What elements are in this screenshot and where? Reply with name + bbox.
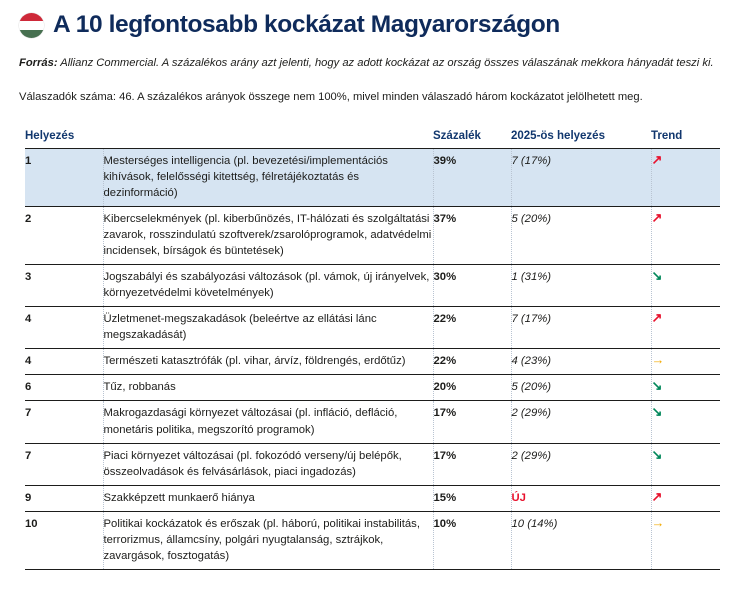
table-header: Helyezés Százalék 2025-ös helyezés Trend xyxy=(25,128,720,149)
cell-previous-rank: 7 (17%) xyxy=(511,149,651,207)
risk-report-page: A 10 legfontosabb kockázat Magyarországo… xyxy=(0,0,745,602)
trend-flat-arrow-icon: → xyxy=(652,353,665,366)
top-risks-table: Helyezés Százalék 2025-ös helyezés Trend… xyxy=(25,128,720,570)
cell-previous-rank: 2 (29%) xyxy=(511,443,651,485)
respondents-note: Válaszadók száma: 46. A százalékos arány… xyxy=(19,89,726,106)
page-title: A 10 legfontosabb kockázat Magyarországo… xyxy=(53,12,560,39)
trend-down-arrow-icon: ↘ xyxy=(652,448,663,461)
table-body: 1Mesterséges intelligencia (pl. bevezeté… xyxy=(25,149,720,570)
trend-up-arrow-icon: ↗ xyxy=(652,311,663,324)
flag-band-white xyxy=(19,21,44,29)
column-header-rank: Helyezés xyxy=(25,128,103,149)
trend-up-arrow-icon: ↗ xyxy=(652,153,663,166)
column-header-previous-rank: 2025-ös helyezés xyxy=(511,128,651,149)
trend-up-arrow-icon: ↗ xyxy=(652,490,663,503)
cell-risk-description: Üzletmenet-megszakadások (beleértve az e… xyxy=(103,307,433,349)
table-header-row: Helyezés Százalék 2025-ös helyezés Trend xyxy=(25,128,720,149)
cell-rank: 3 xyxy=(25,265,103,307)
table-row: 10Politikai kockázatok és erőszak (pl. h… xyxy=(25,511,720,569)
cell-rank: 7 xyxy=(25,401,103,443)
cell-previous-rank: 10 (14%) xyxy=(511,511,651,569)
trend-flat-arrow-icon: → xyxy=(652,516,665,529)
cell-trend: ↘ xyxy=(651,443,720,485)
source-label: Forrás: xyxy=(19,57,58,69)
cell-previous-rank: 7 (17%) xyxy=(511,307,651,349)
table-row: 7Makrogazdasági környezet változásai (pl… xyxy=(25,401,720,443)
table-row: 7Piaci környezet változásai (pl. fokozód… xyxy=(25,443,720,485)
trend-down-arrow-icon: ↘ xyxy=(652,405,663,418)
cell-rank: 2 xyxy=(25,207,103,265)
cell-previous-rank: 2 (29%) xyxy=(511,401,651,443)
cell-previous-rank: 1 (31%) xyxy=(511,265,651,307)
flag-band-red xyxy=(19,13,44,21)
hungary-flag-icon xyxy=(19,13,44,38)
table-row: 9Szakképzett munkaerő hiánya15%ÚJ↗ xyxy=(25,485,720,511)
table-row: 6Tűz, robbanás20%5 (20%)↘ xyxy=(25,375,720,401)
flag-band-green xyxy=(19,30,44,38)
cell-trend: ↗ xyxy=(651,207,720,265)
cell-risk-description: Makrogazdasági környezet változásai (pl.… xyxy=(103,401,433,443)
cell-rank: 7 xyxy=(25,443,103,485)
table-row: 3Jogszabályi és szabályozási változások … xyxy=(25,265,720,307)
source-note: Forrás: Allianz Commercial. A százalékos… xyxy=(19,55,719,72)
cell-risk-description: Természeti katasztrófák (pl. vihar, árví… xyxy=(103,349,433,375)
column-header-percent: Százalék xyxy=(433,128,511,149)
cell-trend: ↗ xyxy=(651,485,720,511)
cell-percent: 39% xyxy=(433,149,511,207)
cell-risk-description: Jogszabályi és szabályozási változások (… xyxy=(103,265,433,307)
cell-rank: 9 xyxy=(25,485,103,511)
table-row: 1Mesterséges intelligencia (pl. bevezeté… xyxy=(25,149,720,207)
trend-down-arrow-icon: ↘ xyxy=(652,379,663,392)
cell-trend: ↘ xyxy=(651,375,720,401)
cell-percent: 37% xyxy=(433,207,511,265)
cell-risk-description: Tűz, robbanás xyxy=(103,375,433,401)
table-row: 4Üzletmenet-megszakadások (beleértve az … xyxy=(25,307,720,349)
cell-percent: 22% xyxy=(433,307,511,349)
table-row: 4Természeti katasztrófák (pl. vihar, árv… xyxy=(25,349,720,375)
cell-risk-description: Kibercselekmények (pl. kiberbűnözés, IT-… xyxy=(103,207,433,265)
trend-up-arrow-icon: ↗ xyxy=(652,211,663,224)
cell-rank: 10 xyxy=(25,511,103,569)
cell-previous-rank: 5 (20%) xyxy=(511,375,651,401)
cell-percent: 15% xyxy=(433,485,511,511)
cell-trend: → xyxy=(651,349,720,375)
column-header-trend: Trend xyxy=(651,128,720,149)
cell-previous-rank-new-badge: ÚJ xyxy=(511,485,651,511)
cell-percent: 20% xyxy=(433,375,511,401)
cell-rank: 6 xyxy=(25,375,103,401)
cell-risk-description: Piaci környezet változásai (pl. fokozódó… xyxy=(103,443,433,485)
cell-trend: ↗ xyxy=(651,149,720,207)
source-text: Allianz Commercial. A százalékos arány a… xyxy=(58,57,714,69)
cell-rank: 1 xyxy=(25,149,103,207)
cell-rank: 4 xyxy=(25,349,103,375)
cell-percent: 10% xyxy=(433,511,511,569)
page-header: A 10 legfontosabb kockázat Magyarországo… xyxy=(0,0,745,39)
cell-trend: ↘ xyxy=(651,401,720,443)
cell-risk-description: Mesterséges intelligencia (pl. bevezetés… xyxy=(103,149,433,207)
cell-trend: → xyxy=(651,511,720,569)
table-row: 2Kibercselekmények (pl. kiberbűnözés, IT… xyxy=(25,207,720,265)
trend-down-arrow-icon: ↘ xyxy=(652,269,663,282)
cell-percent: 17% xyxy=(433,443,511,485)
cell-risk-description: Szakképzett munkaerő hiánya xyxy=(103,485,433,511)
cell-risk-description: Politikai kockázatok és erőszak (pl. háb… xyxy=(103,511,433,569)
column-header-risk xyxy=(103,128,433,149)
cell-rank: 4 xyxy=(25,307,103,349)
cell-percent: 22% xyxy=(433,349,511,375)
cell-percent: 17% xyxy=(433,401,511,443)
cell-trend: ↘ xyxy=(651,265,720,307)
cell-percent: 30% xyxy=(433,265,511,307)
cell-previous-rank: 4 (23%) xyxy=(511,349,651,375)
cell-previous-rank: 5 (20%) xyxy=(511,207,651,265)
cell-trend: ↗ xyxy=(651,307,720,349)
